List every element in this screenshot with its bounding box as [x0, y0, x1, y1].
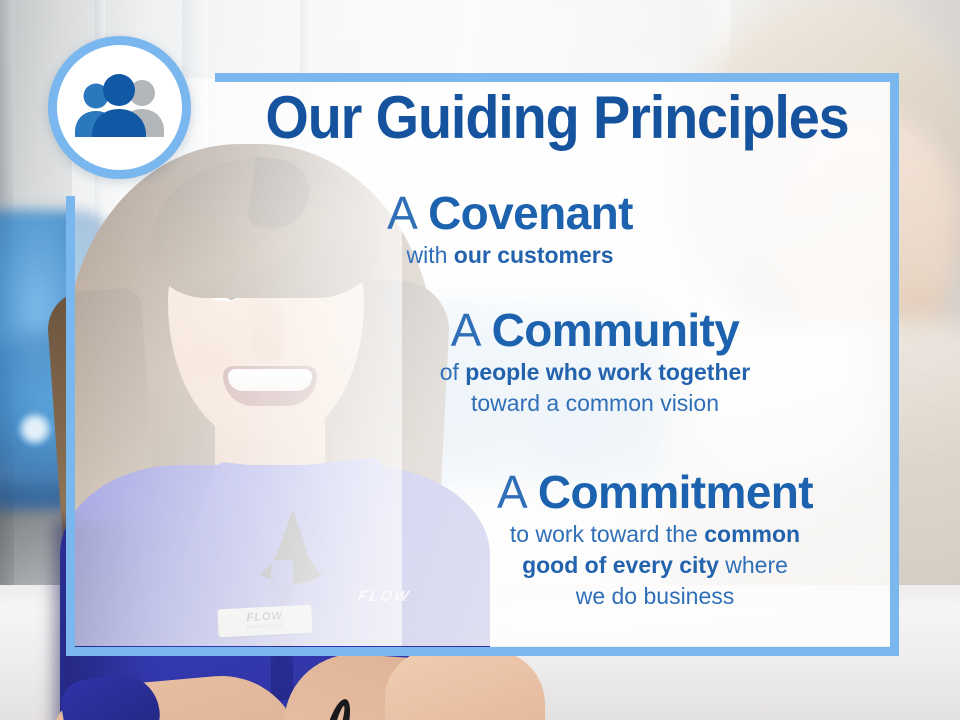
page-title-wrapper: Our Guiding Principles	[215, 88, 899, 148]
principle-heading: A Community	[355, 303, 835, 357]
people-group-icon	[70, 73, 170, 143]
principle-article: A	[387, 187, 415, 239]
principle-line-text: where	[719, 552, 788, 578]
frame-border-left	[66, 196, 75, 656]
principle-line: with our customers	[300, 240, 720, 271]
principle-lines: to work toward the commongood of every c…	[420, 519, 890, 612]
principle-line-text: we do business	[576, 583, 735, 609]
principle-heading: A Commitment	[420, 465, 890, 519]
people-group-badge	[48, 36, 191, 179]
principle-line-text: toward a common vision	[471, 390, 719, 416]
principle-line: we do business	[420, 581, 890, 612]
principle-title: Commitment	[538, 466, 813, 518]
principle-line: good of every city where	[420, 550, 890, 581]
principle-line-emphasis: common	[704, 521, 800, 547]
frame-border-top	[215, 73, 899, 82]
principle-line-text: with	[406, 242, 453, 268]
principle-heading: A Covenant	[300, 186, 720, 240]
employee-hands	[385, 650, 545, 720]
principle-line: of people who work together	[355, 357, 835, 388]
principle-line-text: to work toward the	[510, 521, 704, 547]
page-title: Our Guiding Principles	[239, 88, 875, 148]
principle-line-emphasis: people who work together	[465, 359, 750, 385]
principle-article: A	[451, 304, 479, 356]
principle-line-emphasis: good of every city	[522, 552, 719, 578]
guiding-principles-graphic: FLOW FLOW AUTOMOTIVE	[0, 0, 960, 720]
principle-article: A	[497, 466, 525, 518]
principle-block-community: A Community of people who work togethert…	[355, 303, 835, 419]
principle-title: Community	[492, 304, 740, 356]
frame-border-right	[890, 73, 899, 656]
principle-block-covenant: A Covenant with our customers	[300, 186, 720, 271]
principle-line: toward a common vision	[355, 388, 835, 419]
principle-line: to work toward the common	[420, 519, 890, 550]
principle-line-emphasis: our customers	[454, 242, 614, 268]
principle-line-text: of	[440, 359, 466, 385]
principle-title: Covenant	[428, 187, 633, 239]
principle-lines: with our customers	[300, 240, 720, 271]
frame-border-bottom	[66, 647, 899, 656]
principle-lines: of people who work togethertoward a comm…	[355, 357, 835, 419]
principle-block-commitment: A Commitment to work toward the commongo…	[420, 465, 890, 612]
vehicle-badge	[18, 412, 52, 446]
